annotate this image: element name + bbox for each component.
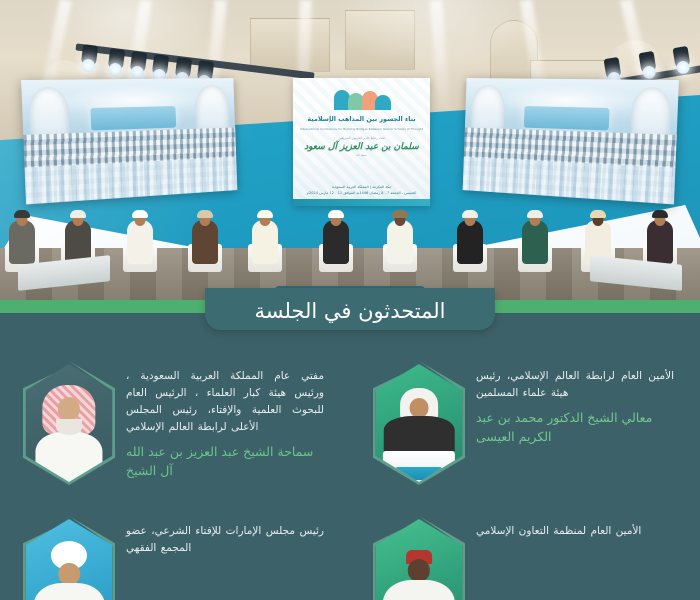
banner-patron-label: تحت رعاية خادم الحرمين الشريفين <box>338 136 385 140</box>
stage-spotlight <box>639 51 657 73</box>
hall-arch <box>195 85 230 133</box>
led-screen-left <box>21 78 237 204</box>
speaker-role: الأمين العام لمنظمة التعاون الإسلامي <box>476 523 674 540</box>
stage-spotlight <box>673 46 691 68</box>
speaker-card[interactable]: الأمين العام لرابطة العالم الإسلامي، رئي… <box>350 364 700 519</box>
speaker-role: رئيس مجلس الإمارات للإفتاء الشرعي، عضو ا… <box>126 523 324 557</box>
speaker-portrait-oic-secretary <box>376 519 462 600</box>
banner-footer: مكة المكرمة | المملكة العربية السعودية ا… <box>293 184 430 196</box>
hall-arch <box>470 85 505 133</box>
person-figure <box>376 519 462 600</box>
banner-patron-sub: حفظه الله <box>356 154 367 157</box>
speaker-portrait-uae-fatwa-council <box>26 519 112 600</box>
banner-date: الخميس - الجمعة 7 - 8 رمضان 1446هـ الموا… <box>293 190 430 196</box>
hall-stage <box>91 106 176 130</box>
speaker-role: مفتي عام المملكة العربية السعودية ، ورئي… <box>126 368 324 436</box>
speaker-portrait-alissa <box>376 364 462 482</box>
conference-banner: بناء الجسور بين المذاهب الإسلامية Intern… <box>293 78 430 206</box>
stage-spotlight <box>152 54 169 76</box>
speaker-portrait-al-sheikh <box>26 364 112 482</box>
speaker-card[interactable]: رئيس مجلس الإمارات للإفتاء الشرعي، عضو ا… <box>0 519 350 600</box>
page-root: بناء الجسور بين المذاهب الإسلامية Intern… <box>0 0 700 600</box>
person-figure <box>26 519 112 600</box>
logo-arch-blue2 <box>375 95 391 110</box>
hall-stage <box>524 106 609 130</box>
hex-frame <box>26 519 112 600</box>
speaker-info: الأمين العام لرابطة العالم الإسلامي، رئي… <box>476 364 674 447</box>
speaker-name: سماحة الشيخ عبد العزيز بن عبد الله آل ال… <box>126 443 324 481</box>
speaker-info: رئيس مجلس الإمارات للإفتاء الشرعي، عضو ا… <box>126 519 324 564</box>
hex-frame <box>376 519 462 600</box>
hall-arch <box>28 87 69 140</box>
speaker-info: مفتي عام المملكة العربية السعودية ، ورئي… <box>126 364 324 481</box>
section-title-text: المتحدثون في الجلسة <box>254 295 445 323</box>
hall-arch <box>631 87 672 140</box>
speaker-role: الأمين العام لرابطة العالم الإسلامي، رئي… <box>476 368 674 402</box>
audience-photo-right <box>463 78 679 204</box>
speaker-card[interactable]: الأمين العام لمنظمة التعاون الإسلامي <box>350 519 700 600</box>
section-title-banner: المتحدثون في الجلسة <box>205 288 495 330</box>
stage-spotlight <box>108 48 125 70</box>
building-bridges-logo <box>334 88 390 110</box>
led-screen-right <box>463 78 679 204</box>
banner-title-ar: بناء الجسور بين المذاهب الإسلامية <box>307 115 415 125</box>
hero-conference-photo: بناء الجسور بين المذاهب الإسلامية Intern… <box>0 0 700 300</box>
speakers-grid: الأمين العام لرابطة العالم الإسلامي، رئي… <box>0 330 700 600</box>
speaker-name: معالي الشيخ الدكتور محمد بن عبد الكريم ا… <box>476 409 674 447</box>
audience-photo-left <box>21 78 237 204</box>
banner-title-en: International Conference for Building Br… <box>300 127 423 132</box>
stage-spotlight <box>604 57 622 79</box>
stage-spotlight <box>130 51 147 73</box>
banner-patron-name: سلمان بن عبد العزيز آل سعود <box>304 142 419 152</box>
speaker-card[interactable]: مفتي عام المملكة العربية السعودية ، ورئي… <box>0 364 350 519</box>
stage-spotlight <box>175 57 192 79</box>
banner-bottom-strip <box>293 199 430 206</box>
stage-spotlight <box>81 44 98 66</box>
speaker-info: الأمين العام لمنظمة التعاون الإسلامي <box>476 519 674 547</box>
